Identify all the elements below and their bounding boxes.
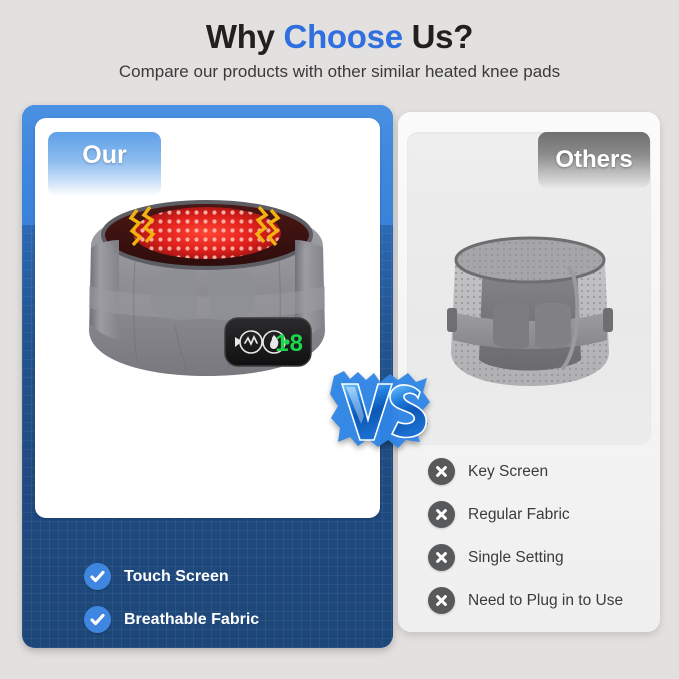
- our-product-card: Our: [35, 118, 380, 518]
- check-icon: [84, 563, 111, 590]
- list-item: Key Screen: [428, 450, 658, 493]
- feature-label: Key Screen: [468, 463, 548, 481]
- list-item: Breathable Fabric: [84, 598, 393, 641]
- title-accent-word: Choose: [284, 18, 403, 55]
- list-item: Touch Screen: [84, 555, 393, 598]
- feature-label: Single Setting: [468, 549, 564, 567]
- feature-label: Regular Fabric: [468, 506, 570, 524]
- feature-label: Need to Plug in to Use: [468, 592, 623, 610]
- infographic-stage: Why Choose Us? Compare our products with…: [0, 0, 679, 679]
- plain-back-brace-image: [435, 228, 625, 403]
- our-feature-list: Touch Screen Breathable Fabric 3 Heating…: [84, 555, 393, 648]
- list-item: Need to Plug in to Use: [428, 579, 658, 622]
- others-product-panel: Others Key Screen Regular Fabric Single …: [398, 112, 660, 632]
- title-part-2: Us?: [403, 18, 473, 55]
- x-icon: [428, 458, 455, 485]
- page-title: Why Choose Us?: [0, 18, 679, 56]
- temperature-display: 18: [275, 330, 304, 357]
- vs-badge: VS: [328, 368, 433, 450]
- x-icon: [428, 587, 455, 614]
- title-part-1: Why: [206, 18, 284, 55]
- list-item: Regular Fabric: [428, 493, 658, 536]
- page-subtitle: Compare our products with other similar …: [0, 62, 679, 82]
- x-icon: [428, 544, 455, 571]
- others-tab-label: Others: [538, 132, 650, 188]
- control-panel: 18: [225, 318, 311, 366]
- check-icon: [84, 606, 111, 633]
- heated-back-brace-image: 18: [75, 190, 340, 390]
- feature-label: Touch Screen: [124, 568, 229, 586]
- list-item: Single Setting: [428, 536, 658, 579]
- others-feature-list: Key Screen Regular Fabric Single Setting…: [428, 450, 658, 622]
- feature-label: Breathable Fabric: [124, 611, 259, 629]
- list-item: 3 Heating & Vibration Modes: [84, 641, 393, 648]
- our-tab-label: Our: [48, 132, 161, 196]
- x-icon: [428, 501, 455, 528]
